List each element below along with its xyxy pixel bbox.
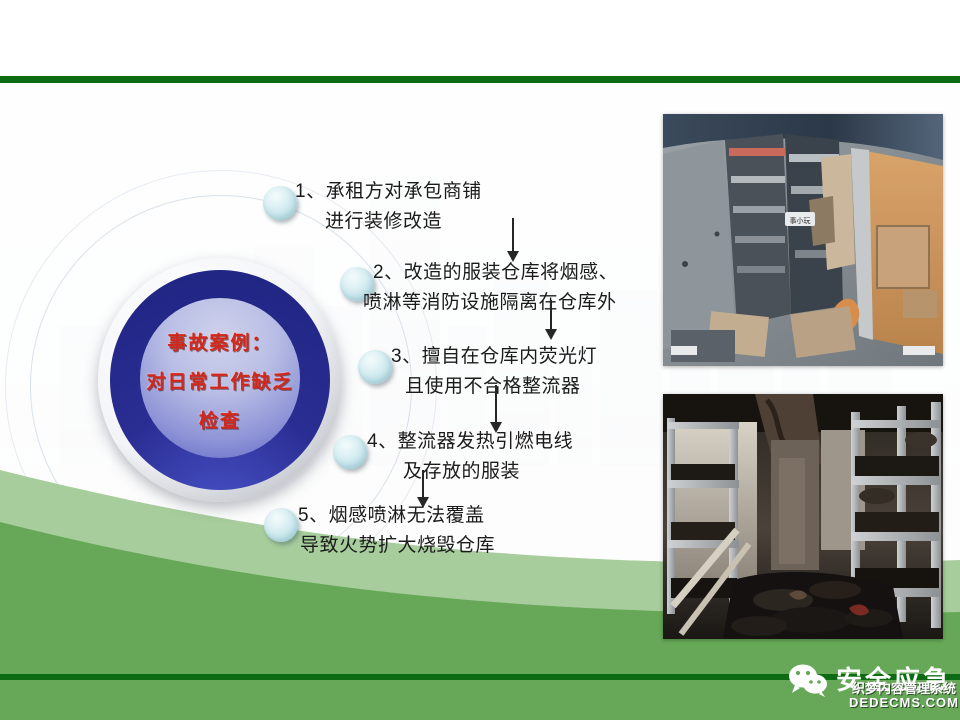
step-4-line-1: 4、整流器发热引燃电线 [367,428,573,456]
bullet-step-3 [358,350,392,384]
bullet-step-5 [264,508,298,542]
bullet-step-1 [263,186,297,220]
steps-list: 1、承租方对承包商铺 进行装修改造 2、改造的服装仓库将烟感、 喷淋等消防设施隔… [255,160,675,580]
arrow-down-icon-1 [505,218,521,262]
arrow-down-icon-2 [543,300,559,340]
slide-root: 事故案例： 对日常工作缺乏 检查 1、承租方对承包商铺 进行装修改造 2、改造的… [0,0,960,720]
arrow-down-icon-3 [488,385,504,433]
photo-burnt-warehouse [663,394,943,639]
step-3-line-1: 3、擅自在仓库内荧光灯 [391,343,597,371]
circle-line-3: 检查 [199,406,241,433]
watermark-cn: 织梦内容管理系统 [848,682,960,696]
bullet-step-4 [333,435,367,469]
step-1-line-1: 1、承租方对承包商铺 [295,178,482,206]
watermark-en: DEDECMS.COM [848,696,960,710]
dedecms-watermark: 织梦内容管理系统 DEDECMS.COM [848,682,960,709]
wechat-icon [786,663,830,697]
step-5-line-2: 导致火势扩大烧毁仓库 [300,532,495,560]
step-2-line-2: 喷淋等消防设施隔离在仓库外 [363,289,617,317]
step-2-line-1: 2、改造的服装仓库将烟感、 [373,259,618,287]
photo-warehouse-cctv: 事小玩 [663,114,943,366]
step-5-line-1: 5、烟感喷淋无法覆盖 [298,502,485,530]
svg-text:事小玩: 事小玩 [790,216,811,225]
step-1-line-2: 进行装修改造 [325,208,442,236]
top-divider-rule [0,76,960,83]
